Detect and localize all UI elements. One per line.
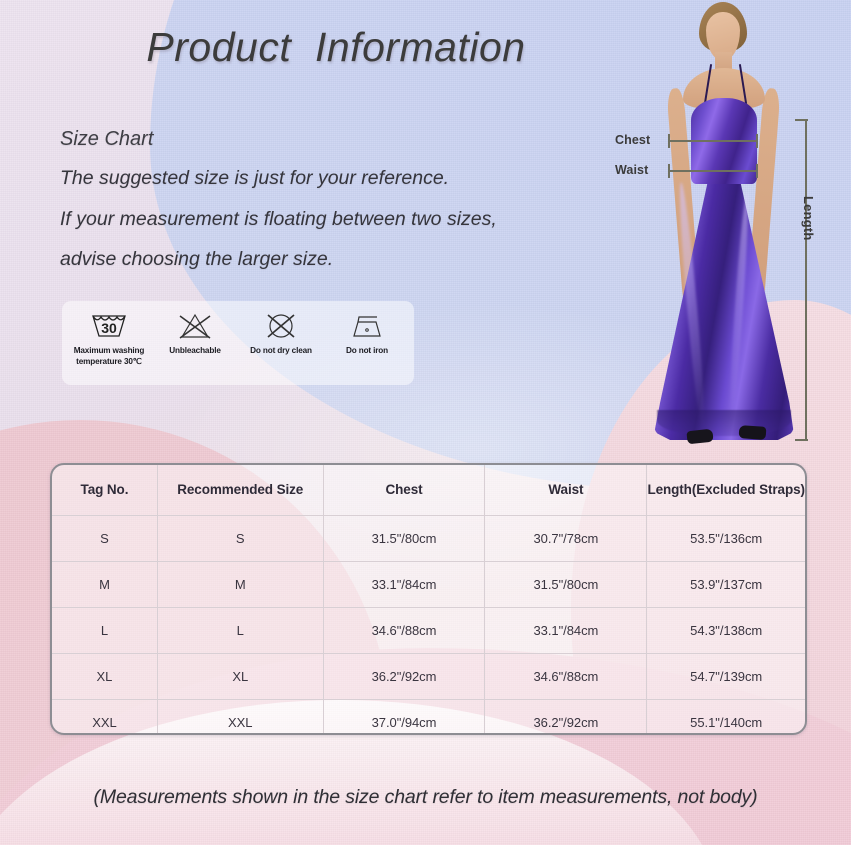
- model-shoe-left: [686, 429, 713, 445]
- cell-recommended-size: XXL: [157, 699, 323, 735]
- column-header-tag-no: Tag No.: [52, 465, 157, 515]
- care-item-wash: 30 Maximum washing temperature 30℃: [66, 309, 152, 368]
- cell-tag-no: L: [52, 607, 157, 653]
- page-title: Product Information: [0, 24, 672, 71]
- table-row: S S 31.5"/80cm 30.7"/78cm 53.5"/136cm: [52, 515, 805, 561]
- cell-length: 54.3"/138cm: [647, 607, 805, 653]
- column-header-recommended-size: Recommended Size: [157, 465, 323, 515]
- table-row: M M 33.1"/84cm 31.5"/80cm 53.9"/137cm: [52, 561, 805, 607]
- care-item-dry-clean: Do not dry clean: [238, 309, 324, 357]
- care-label-bleach: Unbleachable: [169, 346, 220, 357]
- table-row: L L 34.6"/88cm 33.1"/84cm 54.3"/138cm: [52, 607, 805, 653]
- cell-waist: 30.7"/78cm: [485, 515, 647, 561]
- svg-text:30: 30: [101, 320, 117, 336]
- cell-chest: 31.5"/80cm: [323, 515, 485, 561]
- care-label-wash: Maximum washing temperature 30℃: [74, 346, 145, 368]
- care-instructions-panel: 30 Maximum washing temperature 30℃ Unble…: [62, 301, 414, 385]
- intro-line-3: advise choosing the larger size.: [60, 250, 600, 270]
- care-label-dry-clean: Do not dry clean: [250, 346, 312, 357]
- cell-chest: 36.2"/92cm: [323, 653, 485, 699]
- wash-30-icon: 30: [89, 309, 129, 343]
- cell-tag-no: XL: [52, 653, 157, 699]
- intro-line-2: If your measurement is floating between …: [60, 210, 600, 230]
- care-item-bleach: Unbleachable: [152, 309, 238, 357]
- cell-length: 55.1"/140cm: [647, 699, 805, 735]
- cell-waist: 36.2"/92cm: [485, 699, 647, 735]
- waist-measure-label: Waist: [615, 163, 648, 177]
- cell-length: 54.7"/139cm: [647, 653, 805, 699]
- column-header-waist: Waist: [485, 465, 647, 515]
- cell-chest: 37.0"/94cm: [323, 699, 485, 735]
- cell-length: 53.9"/137cm: [647, 561, 805, 607]
- cell-chest: 33.1"/84cm: [323, 561, 485, 607]
- cell-recommended-size: S: [157, 515, 323, 561]
- cell-waist: 33.1"/84cm: [485, 607, 647, 653]
- intro-line-1: The suggested size is just for your refe…: [60, 169, 600, 189]
- column-header-length: Length(Excluded Straps): [647, 465, 805, 515]
- cell-chest: 34.6"/88cm: [323, 607, 485, 653]
- waist-measure-tick-right: [756, 164, 758, 178]
- table-row: XL XL 36.2"/92cm 34.6"/88cm 54.7"/139cm: [52, 653, 805, 699]
- size-chart-table-container: Tag No. Recommended Size Chest Waist Len…: [50, 463, 807, 735]
- cell-tag-no: XXL: [52, 699, 157, 735]
- cell-tag-no: M: [52, 561, 157, 607]
- chest-measure-tick-right: [756, 134, 758, 148]
- no-dry-clean-icon: [261, 309, 301, 343]
- care-item-iron: Do not iron: [324, 309, 410, 357]
- cell-recommended-size: M: [157, 561, 323, 607]
- waist-measure-line: [668, 170, 758, 172]
- care-label-iron: Do not iron: [346, 346, 388, 357]
- measurement-disclaimer: (Measurements shown in the size chart re…: [0, 786, 851, 809]
- cell-tag-no: S: [52, 515, 157, 561]
- page-content: Product Information Size Chart The sugge…: [0, 0, 851, 845]
- no-iron-icon: [347, 309, 387, 343]
- length-measure-label: Length: [801, 196, 816, 241]
- model-measurement-diagram: Chest Waist Length: [615, 0, 851, 462]
- cell-recommended-size: XL: [157, 653, 323, 699]
- length-measure-bar: [805, 119, 807, 441]
- dress-skirt: [653, 172, 795, 440]
- chest-measure-label: Chest: [615, 133, 650, 147]
- cell-recommended-size: L: [157, 607, 323, 653]
- table-header-row: Tag No. Recommended Size Chest Waist Len…: [52, 465, 805, 515]
- table-row: XXL XXL 37.0"/94cm 36.2"/92cm 55.1"/140c…: [52, 699, 805, 735]
- model-shoe-right: [739, 425, 767, 440]
- size-chart-heading: Size Chart: [60, 128, 600, 151]
- cell-waist: 31.5"/80cm: [485, 561, 647, 607]
- cell-length: 53.5"/136cm: [647, 515, 805, 561]
- chest-measure-line: [668, 140, 758, 142]
- no-bleach-icon: [175, 309, 215, 343]
- intro-copy: Size Chart The suggested size is just fo…: [60, 128, 600, 291]
- model-photo: [643, 2, 803, 454]
- size-chart-table: Tag No. Recommended Size Chest Waist Len…: [52, 465, 805, 735]
- length-measure-cap-bottom: [795, 439, 808, 441]
- cell-waist: 34.6"/88cm: [485, 653, 647, 699]
- column-header-chest: Chest: [323, 465, 485, 515]
